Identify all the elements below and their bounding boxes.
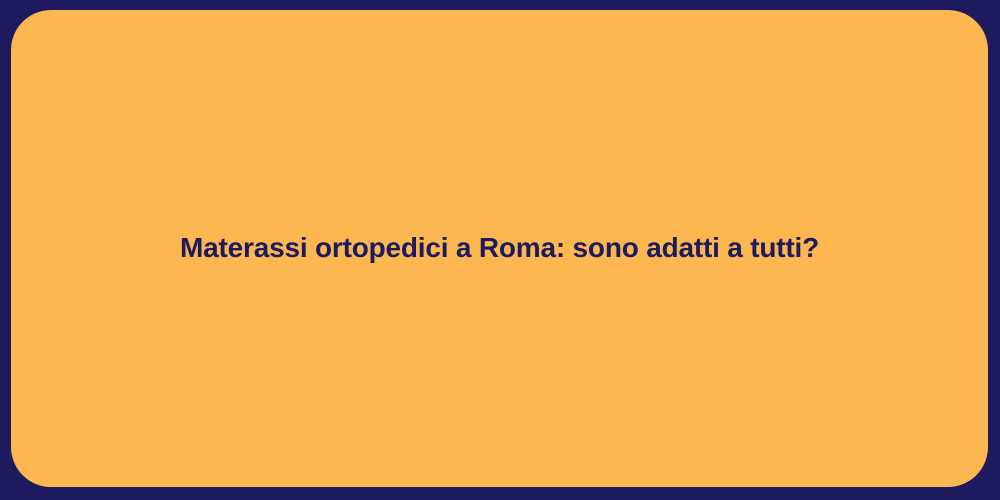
banner-frame: Materassi ortopedici a Roma: sono adatti… (0, 0, 1000, 500)
banner-headline: Materassi ortopedici a Roma: sono adatti… (11, 230, 988, 266)
banner-card-panel: Materassi ortopedici a Roma: sono adatti… (11, 10, 988, 487)
